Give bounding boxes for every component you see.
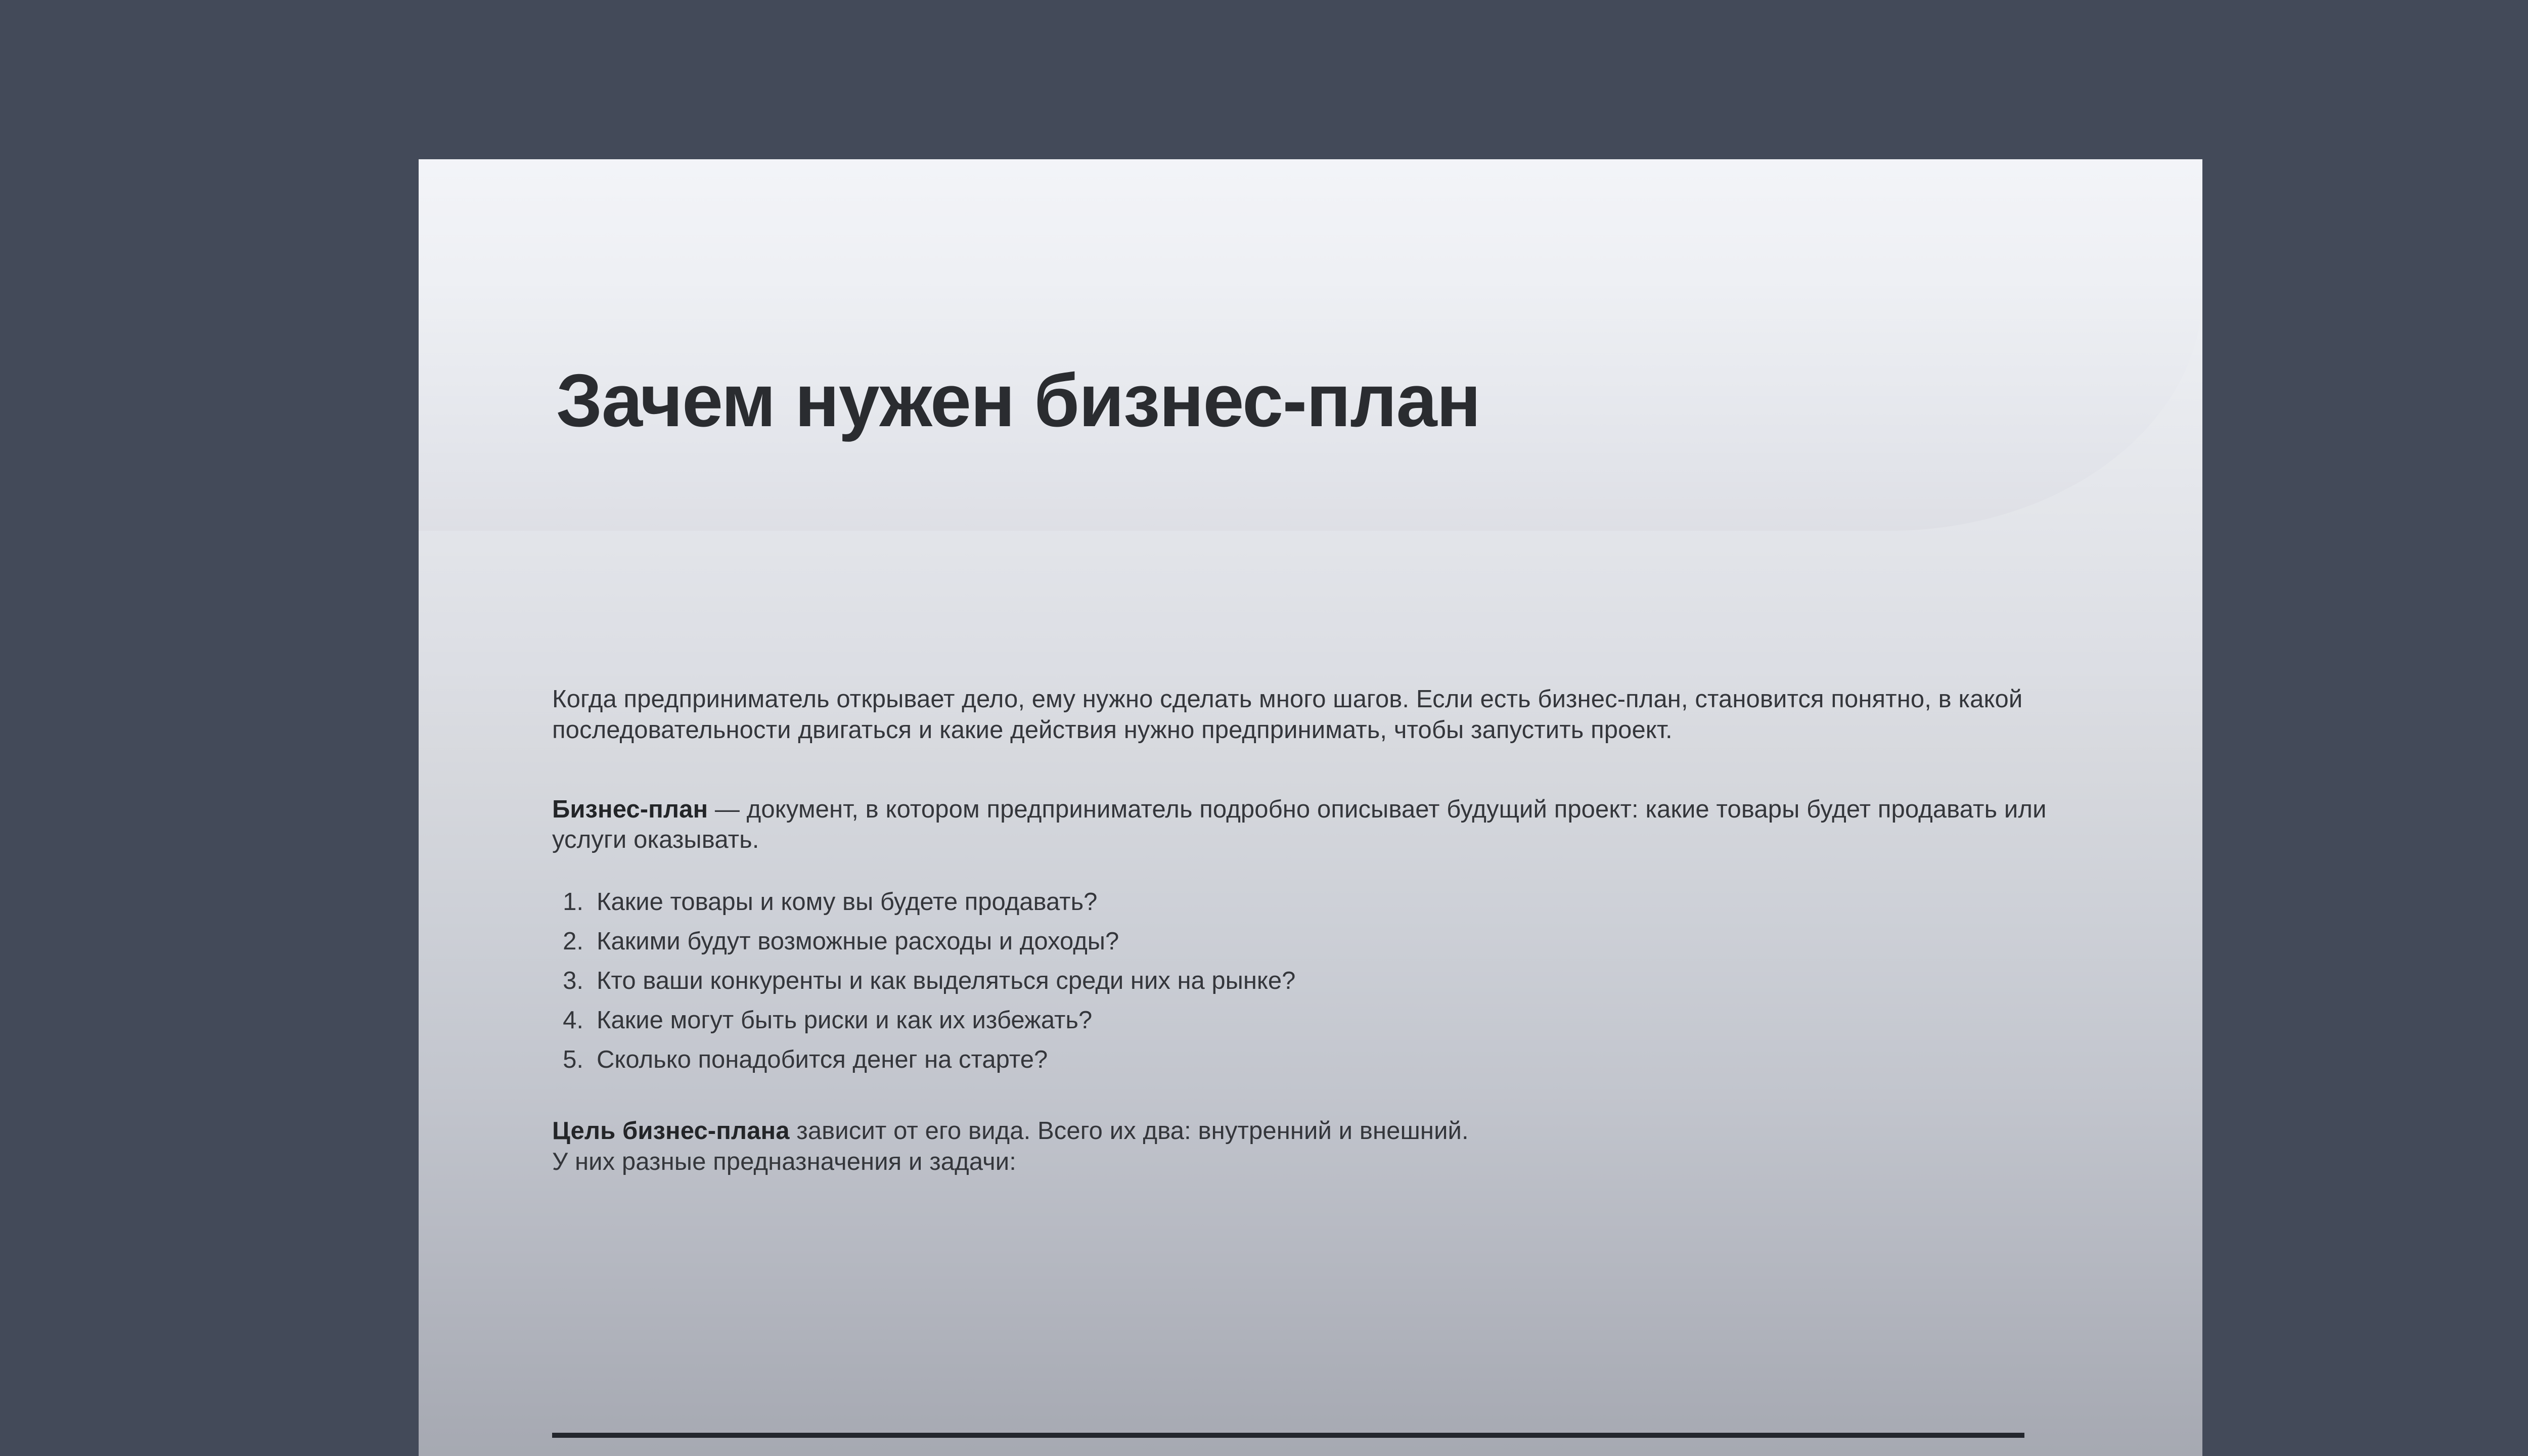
list-item-marker: 5. bbox=[552, 1048, 597, 1072]
intro-paragraph: Когда предприниматель открывает дело, ем… bbox=[552, 684, 2049, 746]
goal-followup: У них разные предназначения и задачи: bbox=[552, 1147, 2049, 1177]
goal-body: зависит от его вида. Всего их два: внутр… bbox=[790, 1117, 1469, 1145]
list-item-marker: 2. bbox=[552, 929, 597, 954]
definition-paragraph: Бизнес-план — документ, в котором предпр… bbox=[552, 794, 2049, 856]
spacer bbox=[552, 1072, 2049, 1116]
title-banner bbox=[419, 159, 2202, 531]
definition-term: Бизнес-план bbox=[552, 796, 708, 823]
list-item-marker: 1. bbox=[552, 890, 597, 915]
list-item-text: Кто ваши конкуренты и как выделяться сре… bbox=[597, 969, 2049, 993]
list-item-text: Какие товары и кому вы будете продавать? bbox=[597, 890, 2049, 915]
goal-term: Цель бизнес-плана bbox=[552, 1117, 790, 1145]
list-item-text: Какими будут возможные расходы и доходы? bbox=[597, 929, 2049, 954]
section-divider bbox=[552, 1433, 2024, 1438]
list-item-text: Какие могут быть риски и как их избежать… bbox=[597, 1008, 2049, 1033]
goal-paragraph: Цель бизнес-плана зависит от его вида. В… bbox=[552, 1116, 2049, 1147]
list-item: 5. Сколько понадобится денег на старте? bbox=[552, 1048, 2049, 1072]
document-body: Когда предприниматель открывает дело, ем… bbox=[552, 684, 2049, 1177]
questions-list: 1. Какие товары и кому вы будете продава… bbox=[552, 890, 2049, 1072]
definition-body: — документ, в котором предприниматель по… bbox=[552, 796, 2047, 854]
document-page: Зачем нужен бизнес-план Когда предприним… bbox=[419, 159, 2202, 1456]
page-title: Зачем нужен бизнес-план bbox=[556, 363, 1480, 438]
list-item-marker: 4. bbox=[552, 1008, 597, 1033]
list-item: 1. Какие товары и кому вы будете продава… bbox=[552, 890, 2049, 915]
list-item-text: Сколько понадобится денег на старте? bbox=[597, 1048, 2049, 1072]
list-item: 2. Какими будут возможные расходы и дохо… bbox=[552, 929, 2049, 954]
list-item: 3. Кто ваши конкуренты и как выделяться … bbox=[552, 969, 2049, 993]
spacer bbox=[552, 855, 2049, 890]
list-item-marker: 3. bbox=[552, 969, 597, 993]
spacer bbox=[552, 746, 2049, 794]
list-item: 4. Какие могут быть риски и как их избеж… bbox=[552, 1008, 2049, 1033]
